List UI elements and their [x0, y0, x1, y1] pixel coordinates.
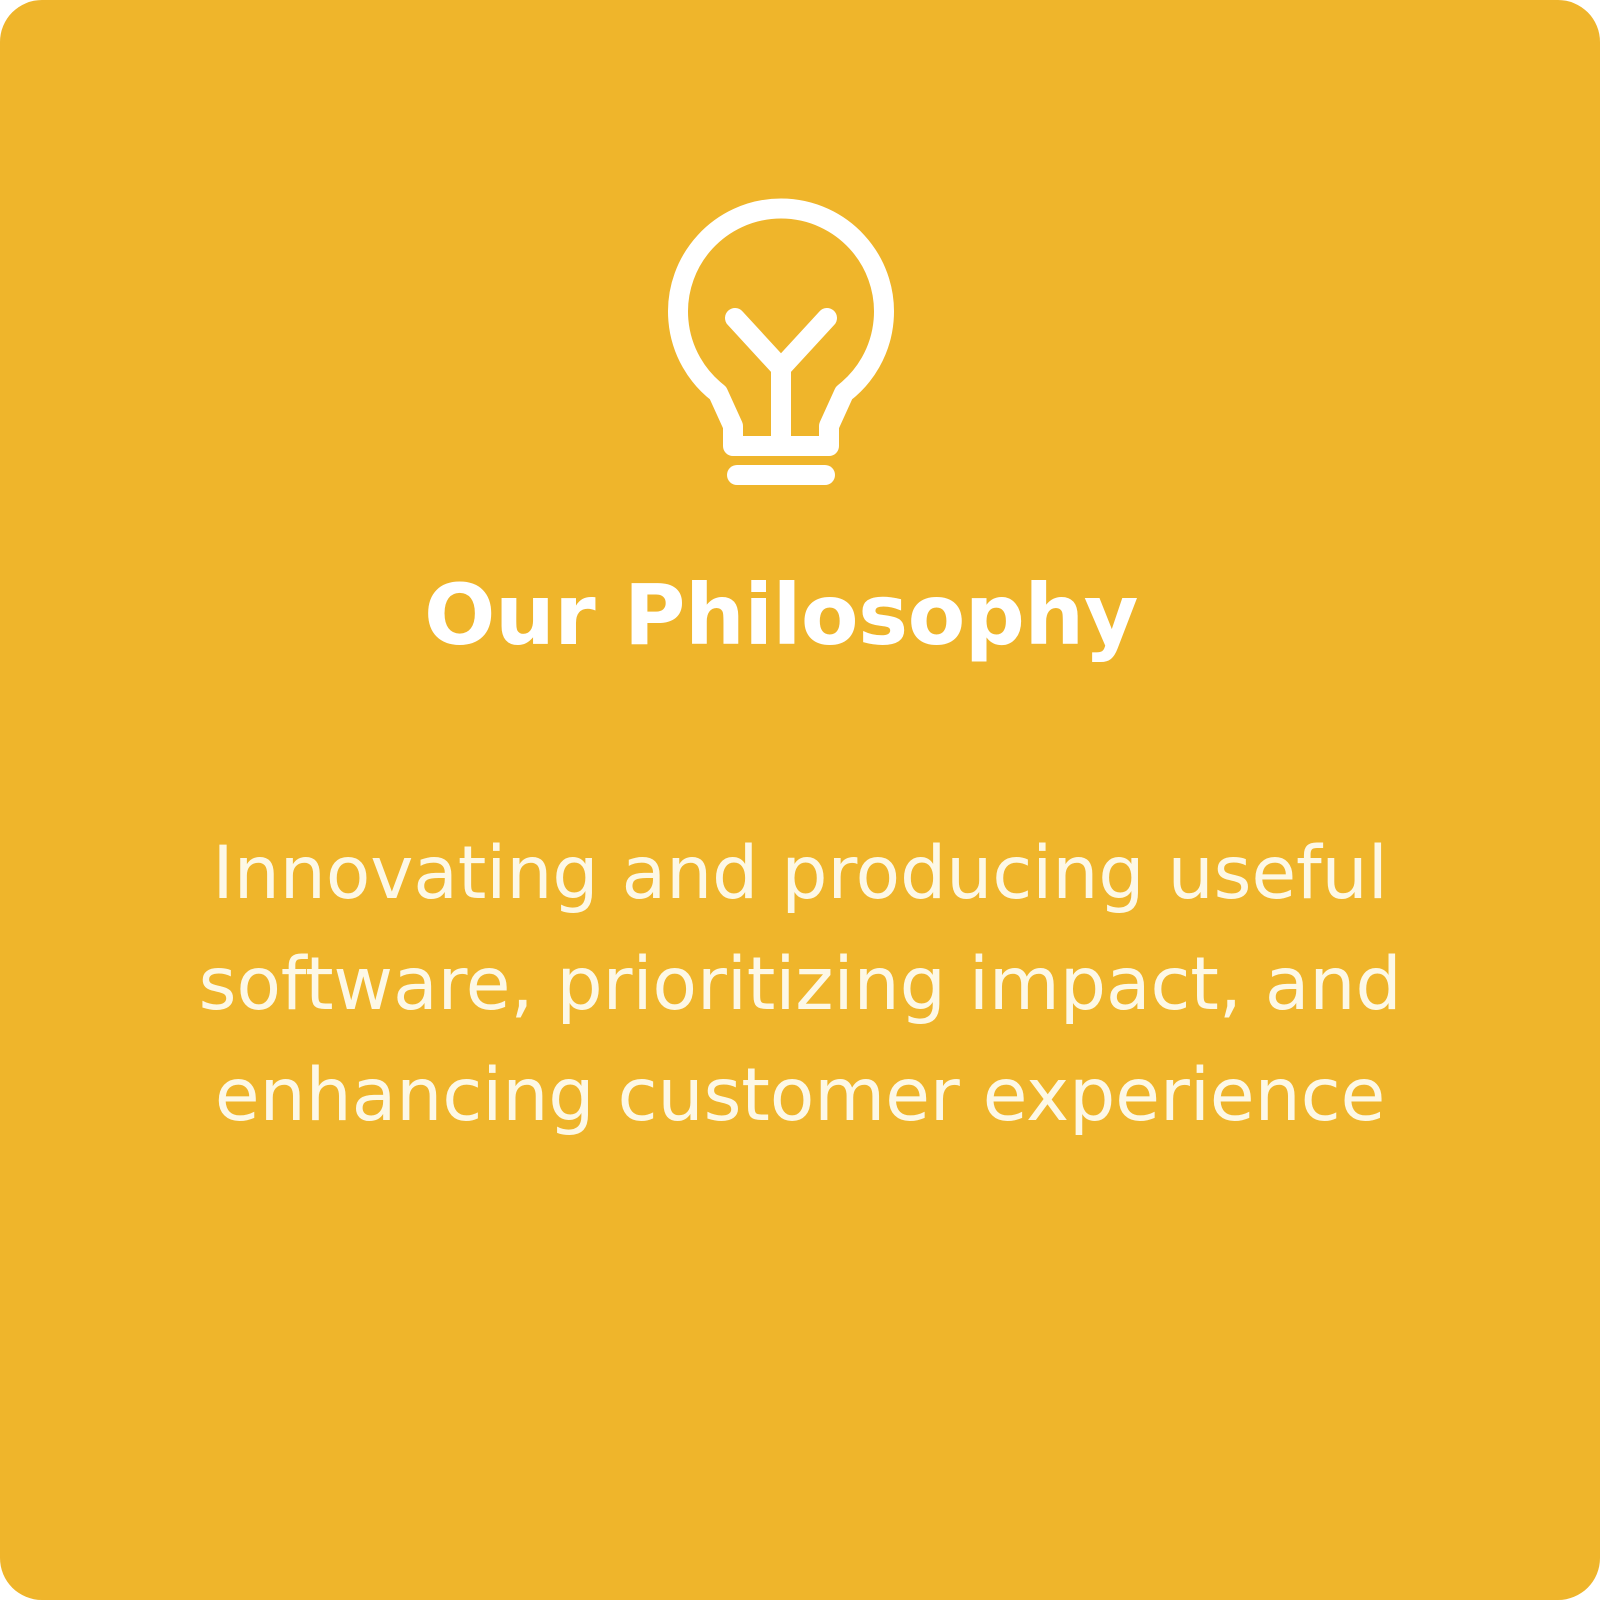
description-line-3: enhancing customer experience	[135, 1040, 1465, 1151]
lightbulb-icon	[651, 178, 911, 490]
philosophy-card: Our Philosophy Innovating and producing …	[0, 0, 1600, 1600]
page-title: Our Philosophy	[0, 563, 1581, 667]
description-line-1: Innovating and producing useful	[135, 818, 1465, 929]
description-line-2: software, prioritizing impact, and	[135, 929, 1465, 1040]
card-description: Innovating and producing useful software…	[0, 818, 1600, 1151]
